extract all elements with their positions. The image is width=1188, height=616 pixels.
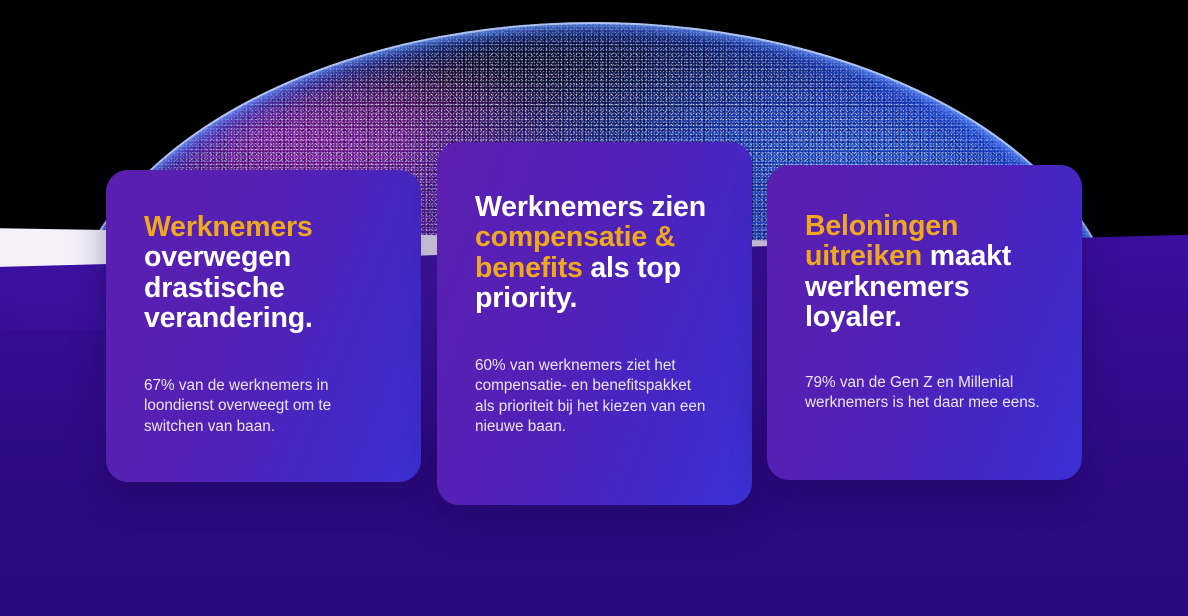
card-headline: Werknemers overwegen drastische verander… (144, 212, 383, 334)
card-headline: Werknemers zien compensatie & benefits a… (475, 192, 714, 314)
card-headline-rest: overwegen drastische verandering. (144, 241, 313, 334)
stat-card-compensation-benefits[interactable]: Werknemers zien compensatie & benefits a… (437, 142, 752, 505)
card-content: Werknemers overwegen drastische verander… (106, 170, 421, 482)
infographic-stage: Werknemers overwegen drastische verander… (0, 0, 1188, 616)
card-content: Beloningen uitreiken maakt werknemers lo… (767, 165, 1082, 480)
card-body-text: 67% van de werknemers in loondienst over… (144, 376, 383, 437)
card-headline-highlight: Werknemers (144, 211, 313, 243)
card-body-text: 79% van de Gen Z en Millenial werknemers… (805, 373, 1044, 414)
stat-card-rewards-loyalty[interactable]: Beloningen uitreiken maakt werknemers lo… (767, 165, 1082, 480)
card-body-text: 60% van werknemers ziet het compensatie-… (475, 356, 714, 437)
card-content: Werknemers zien compensatie & benefits a… (437, 142, 752, 505)
card-headline: Beloningen uitreiken maakt werknemers lo… (805, 211, 1044, 333)
stat-card-employees-change[interactable]: Werknemers overwegen drastische verander… (106, 170, 421, 482)
card-headline-lead: Werknemers zien (475, 191, 706, 223)
